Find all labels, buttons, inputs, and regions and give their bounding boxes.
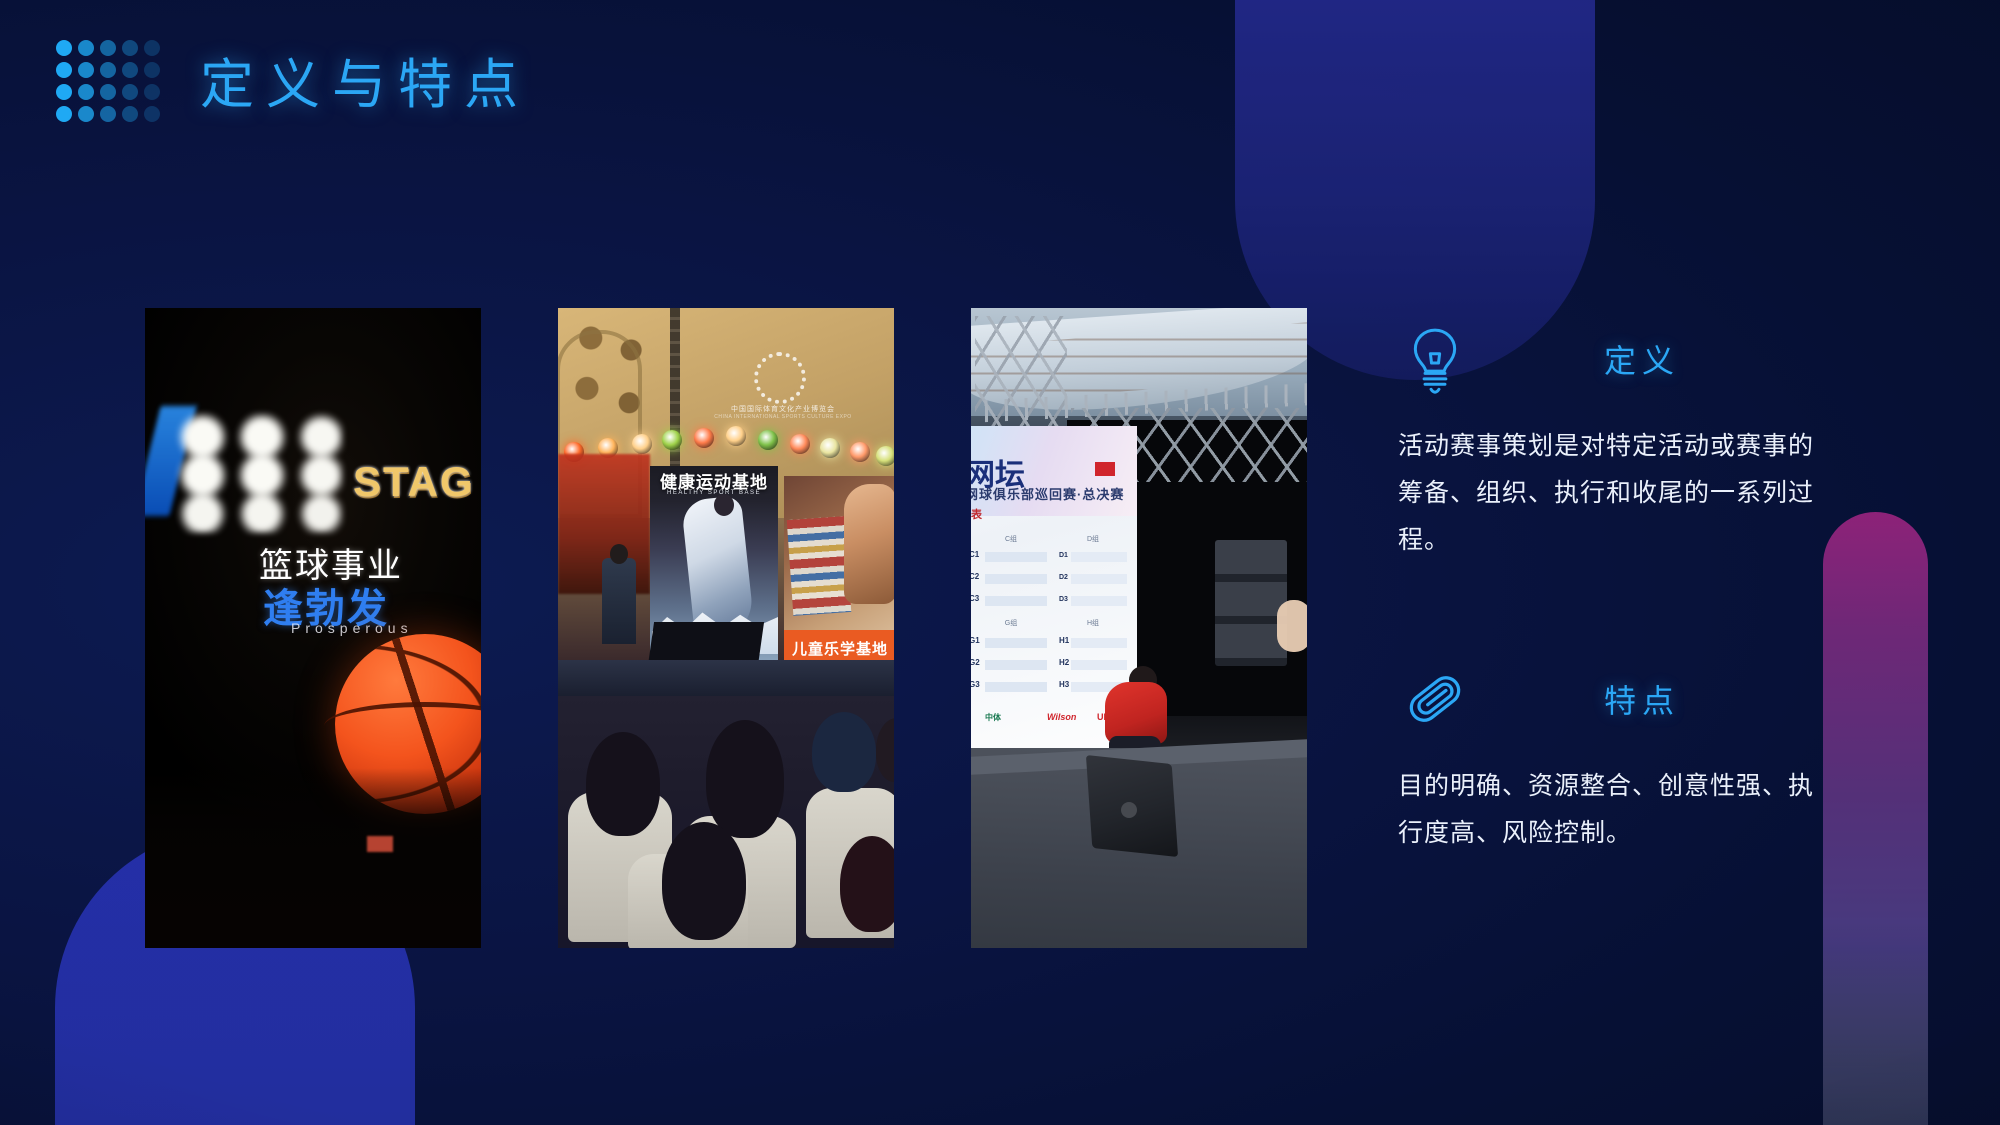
- dot-grid-icon: [56, 40, 160, 122]
- photo3-board-tag: 表: [971, 506, 982, 522]
- photo3-monitor-driver: [1121, 802, 1137, 818]
- photo3-group-d-header: D组: [1055, 534, 1131, 544]
- photo3-sponsor-logos: 中体 Wilson UIS: [985, 712, 1125, 726]
- photo2-stage-lamp: [850, 442, 870, 462]
- lightbulb-icon: [1398, 322, 1472, 396]
- photo3-row-c3: C3: [971, 594, 979, 603]
- info-body-definition: 活动赛事策划是对特定活动或赛事的筹备、组织、执行和收尾的一系列过程。: [1398, 422, 1838, 563]
- photo1-crowd-silhouette: [145, 768, 481, 948]
- photo3-person-torso: [1105, 682, 1167, 744]
- info-block-features: 特点 目的明确、资源整合、创意性强、执行度高、风险控制。: [1398, 660, 1838, 856]
- photo1-stage-word: STAG: [353, 458, 475, 506]
- info-block-definition: 定义 活动赛事策划是对特定活动或赛事的筹备、组织、执行和收尾的一系列过程。: [1398, 320, 1838, 563]
- photo2-banner-label: 儿童乐学基地: [784, 638, 894, 659]
- photo2-stage-lamp: [820, 438, 840, 458]
- photo1-phone-screen-glow: [367, 836, 393, 852]
- photo3-sponsor-wilson: Wilson: [1047, 712, 1076, 722]
- photo2-stage-lamp: [876, 446, 894, 466]
- photo3-row-d3: D3: [1059, 596, 1068, 603]
- info-title-definition: 定义: [1472, 336, 1838, 382]
- photo3-row-c1: C1: [971, 550, 979, 559]
- photo3-hand: [1277, 600, 1307, 652]
- paperclip-icon: [1398, 662, 1472, 736]
- photo3-board-flag-logo: [1095, 462, 1115, 476]
- info-title-features: 特点: [1472, 676, 1838, 722]
- page-title: 定义与特点: [200, 40, 530, 119]
- photo2-stage-lamp: [758, 430, 778, 450]
- presentation-slide: 定义与特点 STAG 篮球事业 逢勃发 Prosperous 中国国际体育文化产…: [0, 0, 2000, 1125]
- info-body-features: 目的明确、资源整合、创意性强、执行度高、风险控制。: [1398, 762, 1838, 856]
- photo3-group-h-header: H组: [1055, 618, 1131, 628]
- photo3-speaker-stack: [1215, 540, 1287, 666]
- photo2-books-graphic: [787, 516, 852, 616]
- photo3-group-g-header: G组: [973, 618, 1049, 628]
- decor-shape-bottom-right: [1823, 512, 1928, 1125]
- stage-light-array: [163, 413, 343, 533]
- photo2-stage-lamp: [662, 430, 682, 450]
- photo3-row-h1: H1: [1059, 636, 1069, 645]
- photo2-stage-lamp: [726, 426, 746, 446]
- photo2-backdrop-logo: [754, 352, 806, 404]
- photo2-stage-lamp: [790, 434, 810, 454]
- photo2-stage-lamp: [632, 434, 652, 454]
- photo-conference-hall-stage: 中国国际体育文化产业博览会 CHINA INTERNATIONAL SPORTS…: [558, 308, 894, 948]
- photo3-row-h2: H2: [1059, 658, 1069, 667]
- photo3-row-c2: C2: [971, 572, 979, 581]
- photo1-headline-en: Prosperous: [291, 620, 413, 636]
- photo2-backdrop-org-line1: 中国国际体育文化产业博览会: [708, 404, 858, 414]
- photo3-row-g1: G1: [971, 636, 980, 645]
- slide-header: 定义与特点: [56, 36, 530, 122]
- photo-outdoor-night-stage: 网坛 网球俱乐部巡回赛·总决赛 表 C组 D组 C1 C2 C3 D1 D2 D…: [971, 308, 1307, 948]
- photo3-row-d1: D1: [1059, 552, 1068, 559]
- photo2-athlete-head: [714, 494, 734, 516]
- photo2-child-figure: [844, 484, 894, 604]
- photo2-panel-subtitle: HEALTHY SPORT BASE: [654, 490, 774, 496]
- photo2-audience-area: [558, 696, 894, 948]
- photo3-row-d2: D2: [1059, 574, 1068, 581]
- photo2-presenter-head: [610, 544, 628, 564]
- photo3-row-h3: H3: [1059, 680, 1069, 689]
- photo3-row-g2: G2: [971, 658, 980, 667]
- photo3-board-subtitle: 网球俱乐部巡回赛·总决赛: [971, 484, 1124, 503]
- photo-basketball-event-stage: STAG 篮球事业 逢勃发 Prosperous: [145, 308, 481, 948]
- photo3-row-g3: G3: [971, 680, 980, 689]
- photo3-group-c-header: C组: [973, 534, 1049, 544]
- photo2-presenter-body: [602, 558, 636, 644]
- photo3-person-in-red: [1105, 666, 1171, 758]
- photo2-stage-lamp: [694, 428, 714, 448]
